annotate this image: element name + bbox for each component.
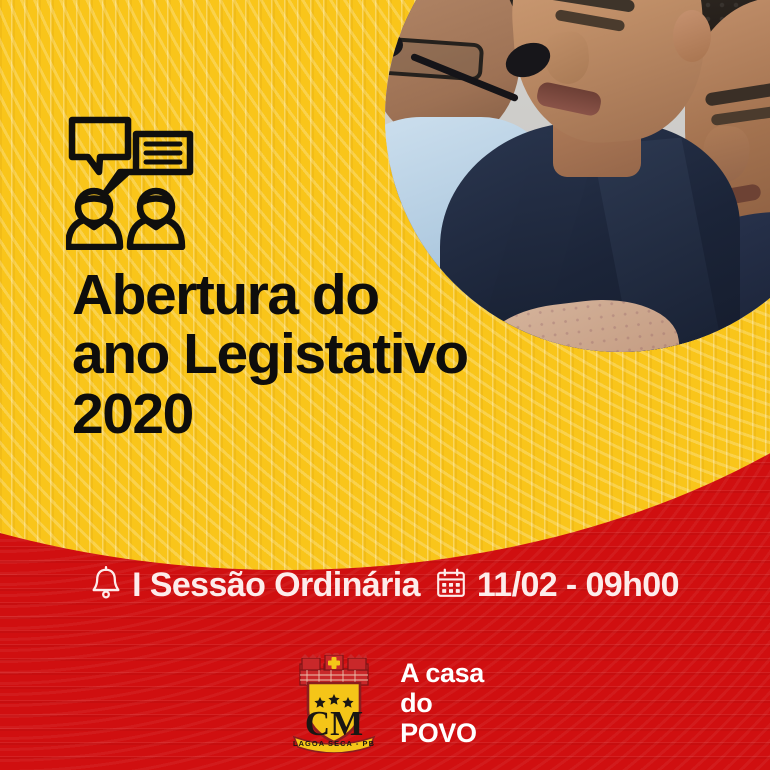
footer-branding: CM LAGOA SECA - PB A casa do POVO [0,653,770,753]
slogan-line-2: do [400,688,484,718]
crest-banner-text: LAGOA SECA - PB [293,739,375,748]
session-label: I Sessão Ordinária [132,566,420,605]
headline-line-2: ano Legistativo [72,325,632,384]
headline-line-3: 2020 [72,385,632,444]
headline-line-1: Abertura do [72,266,632,325]
calendar-icon [436,568,466,603]
session-info-row: I Sessão Ordinária [0,566,770,605]
photo-speaker-ear [673,10,711,62]
announcement-poster: Abertura do ano Legistativo 2020 I Sessã… [0,0,770,770]
date-time-label: 11/02 - 09h00 [477,566,679,605]
page-title: Abertura do ano Legistativo 2020 [72,266,632,444]
slogan: A casa do POVO [400,658,484,749]
discussion-people-speech-bubbles-icon [66,110,196,250]
date-group: 11/02 - 09h00 [436,566,679,605]
slogan-line-1: A casa [400,658,484,688]
crest-initials: CM [305,704,363,743]
bell-icon [91,566,121,605]
session-group: I Sessão Ordinária [91,566,420,605]
slogan-line-3: POVO [400,718,484,748]
coat-of-arms-crest-icon: CM LAGOA SECA - PB [286,653,382,753]
